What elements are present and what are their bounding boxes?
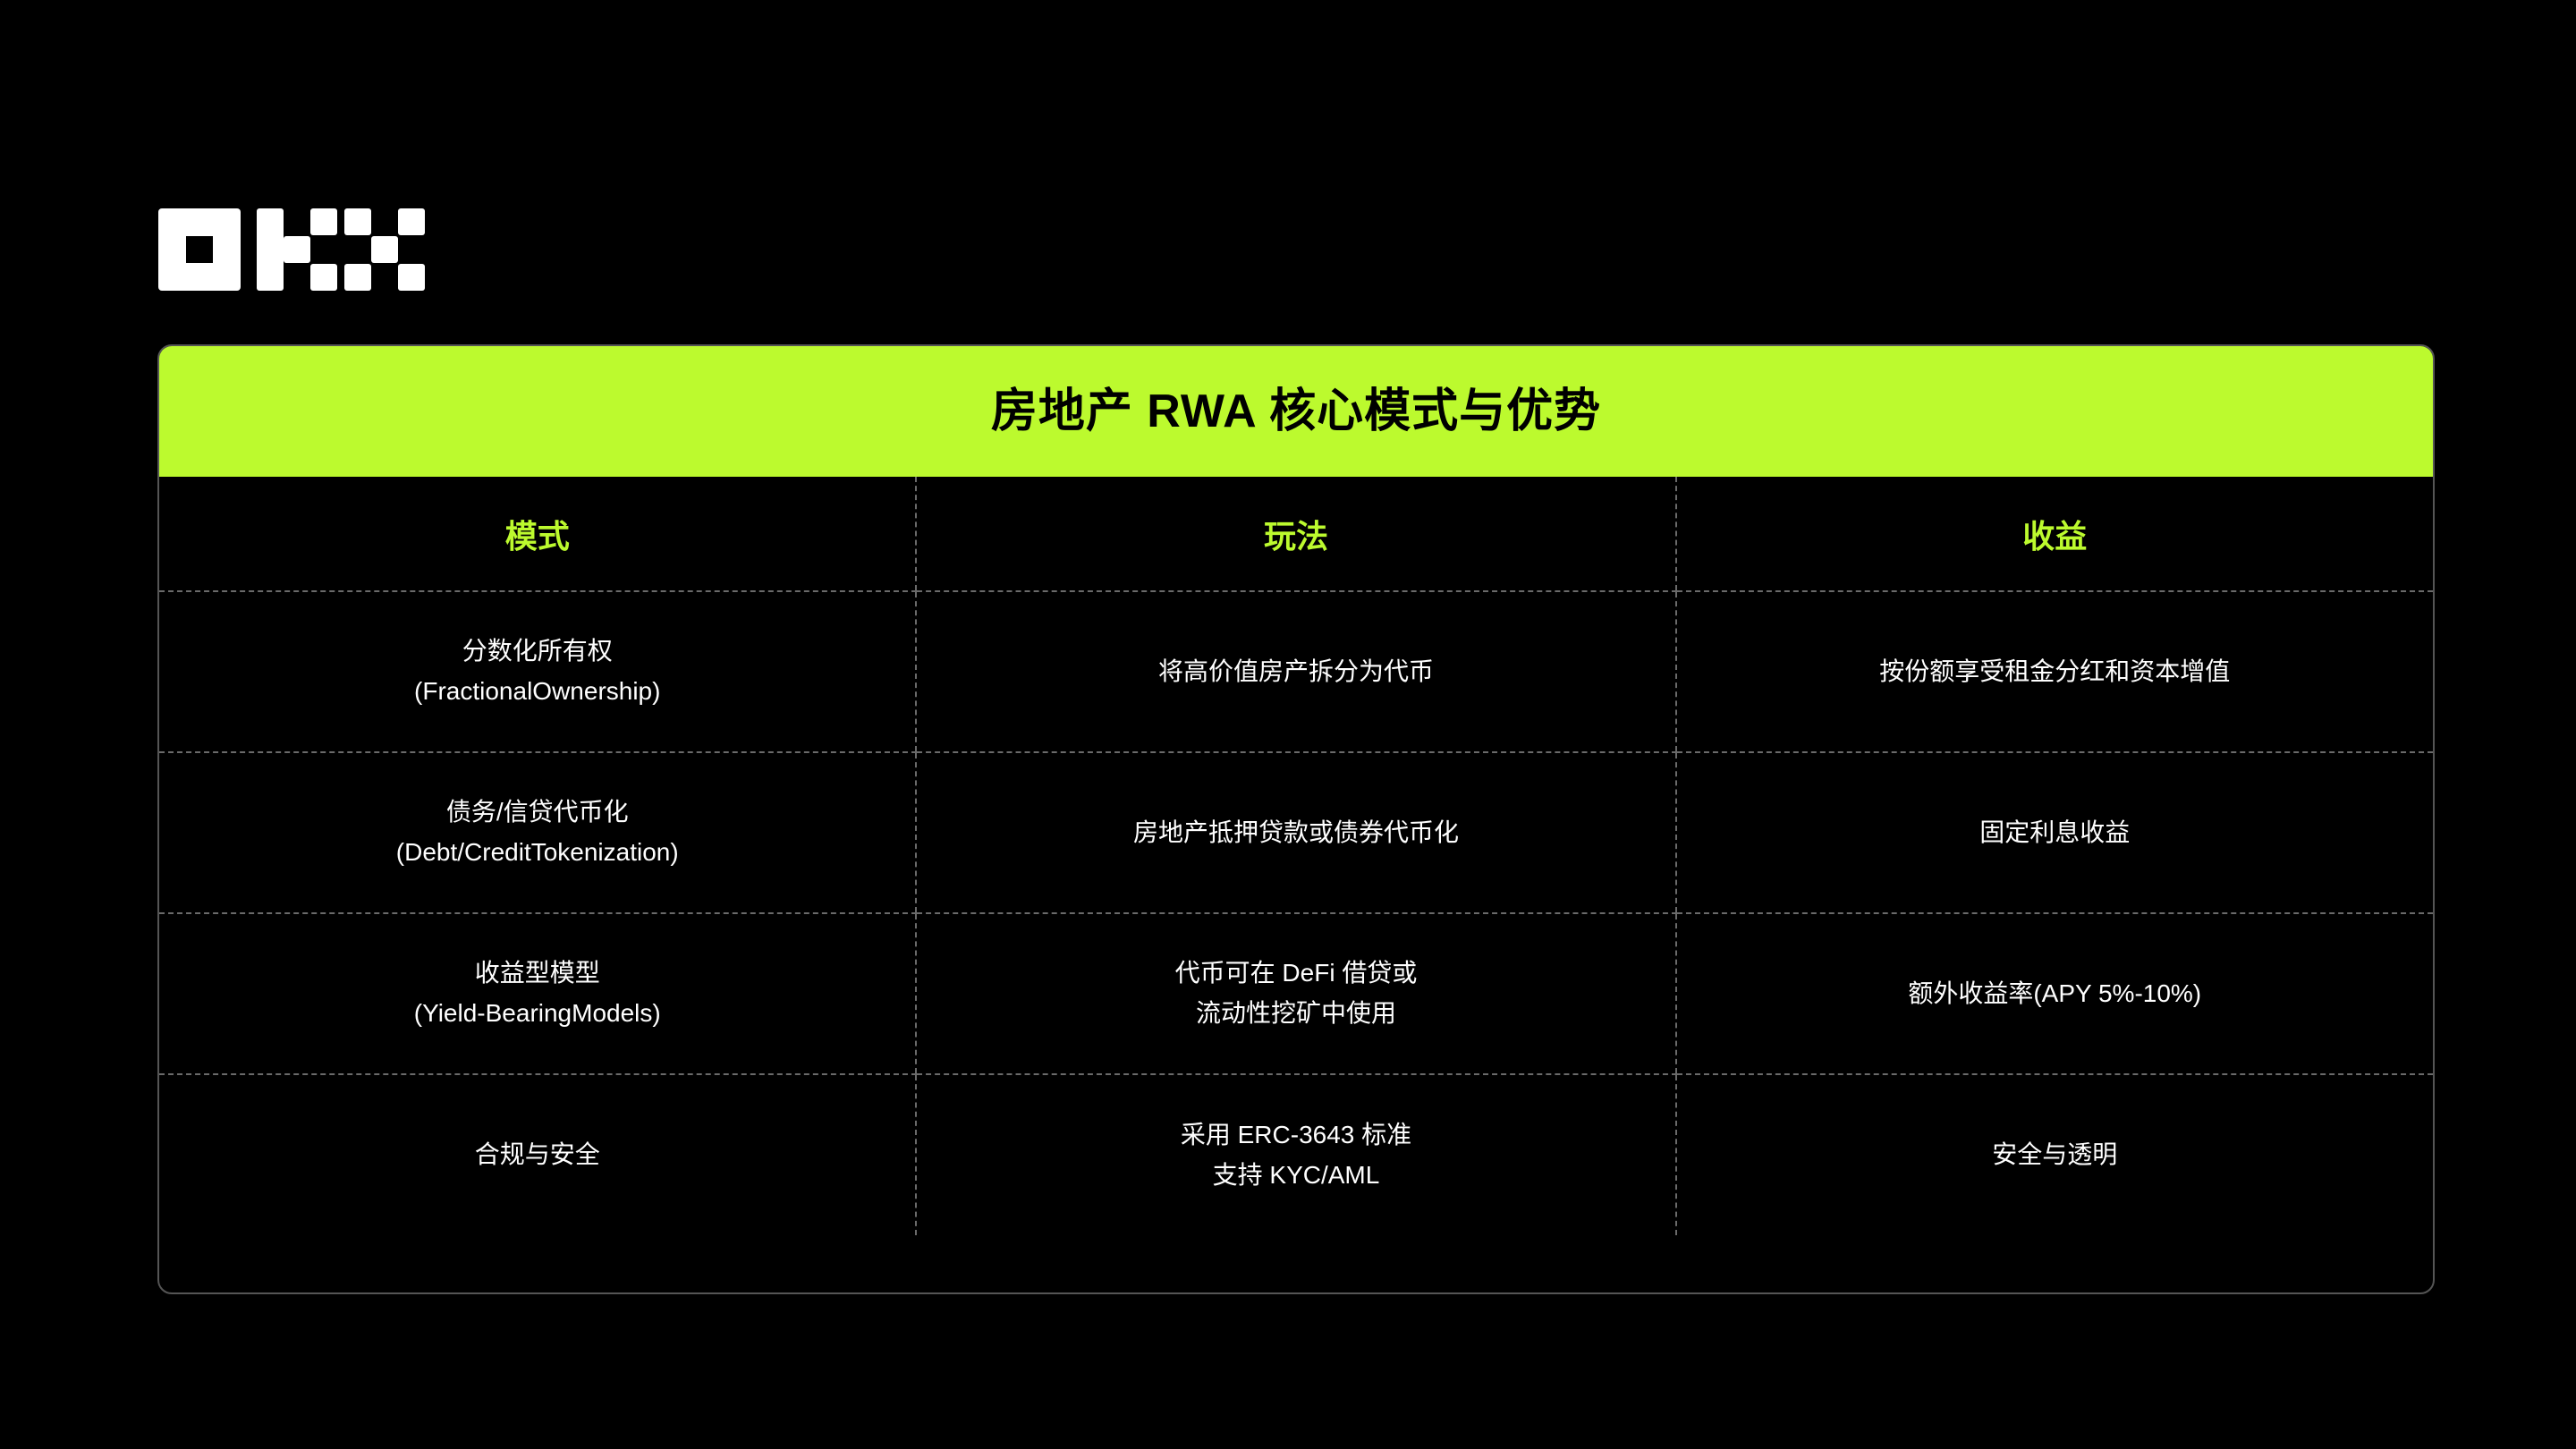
table-header-row: 模式 玩法 收益 xyxy=(159,477,2433,591)
mode-cn: 债务/信贷代币化 xyxy=(181,794,894,831)
mode-cn: 分数化所有权 xyxy=(181,633,894,670)
cell-play: 将高价值房产拆分为代币 xyxy=(916,591,1675,752)
table-row: 债务/信贷代币化 (Debt/CreditTokenization) 房地产抵押… xyxy=(159,752,2433,913)
cell-yield: 固定利息收益 xyxy=(1676,752,2434,913)
play-line-1: 采用 ERC-3643 标准 xyxy=(938,1117,1653,1154)
table-title: 房地产 RWA 核心模式与优势 xyxy=(991,388,1601,435)
cell-play: 采用 ERC-3643 标准 支持 KYC/AML xyxy=(916,1074,1675,1235)
cell-mode: 合规与安全 xyxy=(159,1074,916,1235)
yield-line-1: 固定利息收益 xyxy=(1699,815,2412,852)
slide-canvas: 房地产 RWA 核心模式与优势 模式 玩法 收益 分数化所有权 (Fractio… xyxy=(0,0,2576,1449)
table-row: 收益型模型 (Yield-BearingModels) 代币可在 DeFi 借贷… xyxy=(159,913,2433,1074)
cell-mode: 收益型模型 (Yield-BearingModels) xyxy=(159,913,916,1074)
cell-mode: 分数化所有权 (FractionalOwnership) xyxy=(159,591,916,752)
table-row: 分数化所有权 (FractionalOwnership) 将高价值房产拆分为代币… xyxy=(159,591,2433,752)
mode-en: (Debt/CreditTokenization) xyxy=(181,835,894,871)
play-line-2: 支持 KYC/AML xyxy=(938,1157,1653,1194)
cell-yield: 额外收益率(APY 5%-10%) xyxy=(1676,913,2434,1074)
yield-line-1: 安全与透明 xyxy=(1699,1137,2412,1174)
column-header-mode: 模式 xyxy=(159,477,916,591)
play-line-1: 将高价值房产拆分为代币 xyxy=(938,654,1653,691)
cell-yield: 安全与透明 xyxy=(1676,1074,2434,1235)
mode-en: (FractionalOwnership) xyxy=(181,674,894,710)
table-header-banner: 房地产 RWA 核心模式与优势 xyxy=(159,346,2433,477)
rwa-table: 模式 玩法 收益 分数化所有权 (FractionalOwnership) 将高… xyxy=(159,477,2433,1235)
cell-play: 代币可在 DeFi 借贷或 流动性挖矿中使用 xyxy=(916,913,1675,1074)
play-line-2: 流动性挖矿中使用 xyxy=(938,996,1653,1032)
okx-logo xyxy=(158,208,427,298)
rwa-table-card: 房地产 RWA 核心模式与优势 模式 玩法 收益 分数化所有权 (Fractio… xyxy=(157,344,2435,1294)
yield-line-1: 按份额享受租金分红和资本增值 xyxy=(1699,654,2412,691)
play-line-1: 代币可在 DeFi 借贷或 xyxy=(938,955,1653,992)
mode-cn: 收益型模型 xyxy=(181,955,894,992)
cell-yield: 按份额享受租金分红和资本增值 xyxy=(1676,591,2434,752)
cell-play: 房地产抵押贷款或债券代币化 xyxy=(916,752,1675,913)
cell-mode: 债务/信贷代币化 (Debt/CreditTokenization) xyxy=(159,752,916,913)
mode-en: (Yield-BearingModels) xyxy=(181,996,894,1032)
play-line-1: 房地产抵押贷款或债券代币化 xyxy=(938,815,1653,852)
yield-line-1: 额外收益率(APY 5%-10%) xyxy=(1699,976,2412,1013)
column-header-play: 玩法 xyxy=(916,477,1675,591)
mode-cn: 合规与安全 xyxy=(181,1137,894,1174)
column-header-yield: 收益 xyxy=(1676,477,2434,591)
table-row: 合规与安全 采用 ERC-3643 标准 支持 KYC/AML 安全与透明 xyxy=(159,1074,2433,1235)
